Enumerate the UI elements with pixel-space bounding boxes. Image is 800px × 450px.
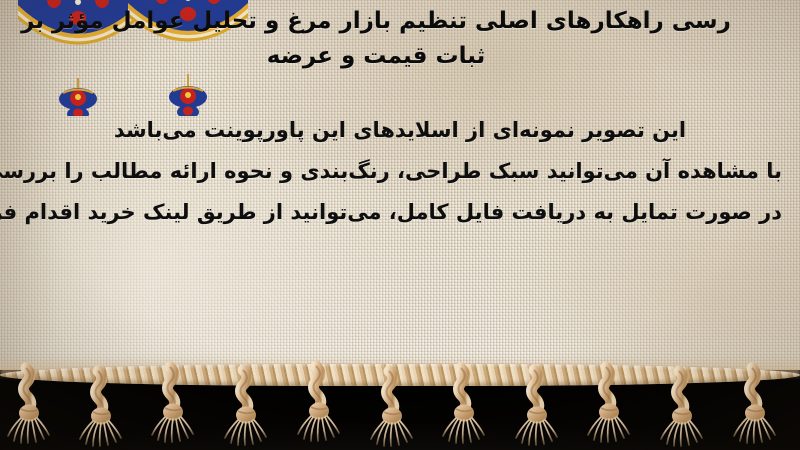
slide-title-line-1: رسی راهکارهای اصلی تنظیم بازار مرغ و تحل… (0, 4, 752, 39)
body-line-2: با مشاهده آن می‌توانید سبک طراحی، رنگ‌بن… (18, 151, 782, 192)
presentation-slide: رسی راهکارهای اصلی تنظیم بازار مرغ و تحل… (0, 0, 800, 450)
slide-title-line-2: ثبات قیمت و عرضه (0, 39, 752, 74)
carpet-knotted-fringe-icon (0, 358, 800, 450)
body-line-3: در صورت تمایل به دریافت فایل کامل، می‌تو… (18, 192, 782, 233)
slide-body-text: این تصویر نمونه‌ای از اسلایدهای این پاور… (18, 110, 782, 233)
slide-title: رسی راهکارهای اصلی تنظیم بازار مرغ و تحل… (0, 4, 800, 74)
body-line-1: این تصویر نمونه‌ای از اسلایدهای این پاور… (18, 110, 782, 151)
